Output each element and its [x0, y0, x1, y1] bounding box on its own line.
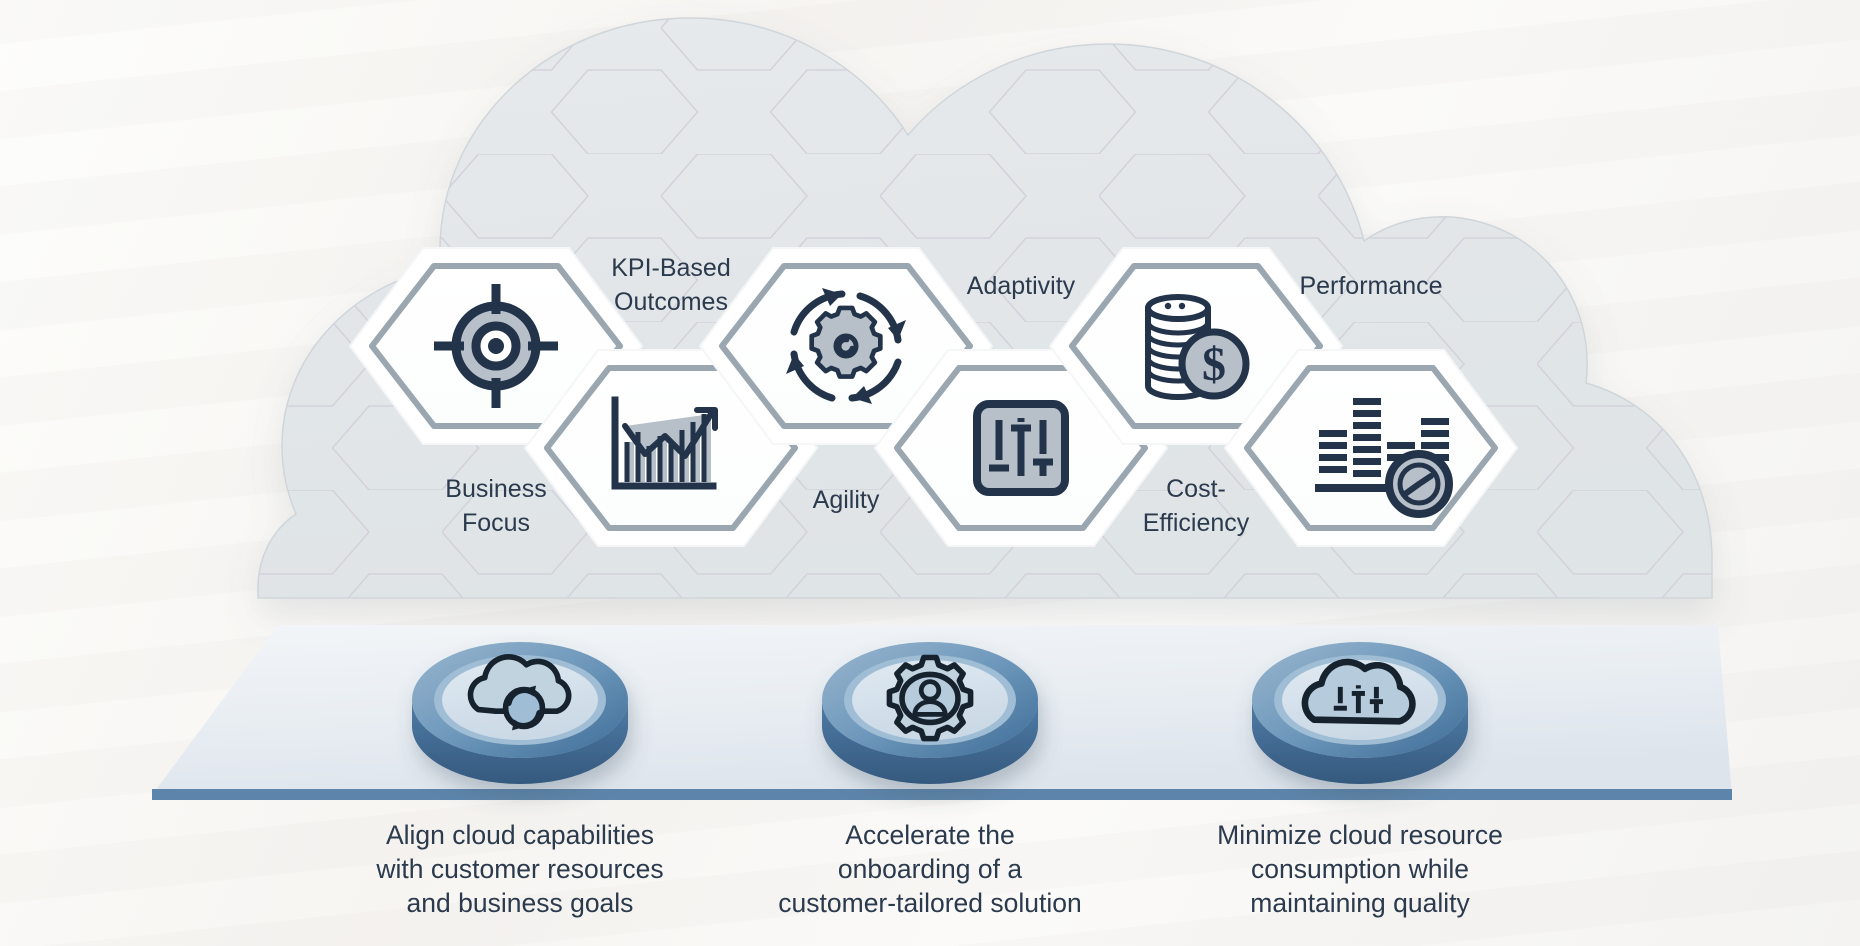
label-agility-line1: Agility: [813, 486, 880, 514]
disc-minimize[interactable]: [1252, 642, 1468, 784]
caption-minimize-line-1: Minimize cloud resource: [1190, 818, 1530, 852]
caption-accelerate-line-3: customer-tailored solution: [760, 886, 1100, 920]
svg-text:$: $: [1202, 338, 1226, 391]
caption-align-line-3: and business goals: [350, 886, 690, 920]
label-adaptivity-line1: Adaptivity: [967, 272, 1076, 300]
label-cost-efficiency-line2: Efficiency: [1143, 509, 1250, 537]
caption-accelerate-line-1: Accelerate the: [760, 818, 1100, 852]
disc-align[interactable]: [412, 642, 628, 784]
label-business-focus-line1: Business: [445, 475, 546, 503]
caption-align: Align cloud capabilities with customer r…: [350, 818, 690, 920]
label-cost-efficiency-line1: Cost-: [1166, 475, 1226, 503]
label-performance-line1: Performance: [1299, 272, 1442, 300]
label-kpi-based-outcomes-line1: KPI-Based: [611, 254, 731, 282]
caption-minimize-line-3: maintaining quality: [1190, 886, 1530, 920]
label-kpi-based-outcomes-line2: Outcomes: [614, 288, 728, 316]
caption-accelerate: Accelerate the onboarding of a customer-…: [760, 818, 1100, 920]
caption-minimize: Minimize cloud resource consumption whil…: [1190, 818, 1530, 920]
cloud-hexagon-layer: $: [0, 0, 1860, 946]
caption-minimize-line-2: consumption while: [1190, 852, 1530, 886]
disc-accelerate[interactable]: [822, 642, 1038, 784]
caption-accelerate-line-2: onboarding of a: [760, 852, 1100, 886]
sliders-icon: [977, 404, 1065, 492]
diagram-canvas: $: [0, 0, 1860, 946]
caption-align-line-2: with customer resources: [350, 852, 690, 886]
label-business-focus-line2: Focus: [462, 509, 530, 537]
gear-user-icon: [889, 658, 970, 739]
caption-align-line-1: Align cloud capabilities: [350, 818, 690, 852]
